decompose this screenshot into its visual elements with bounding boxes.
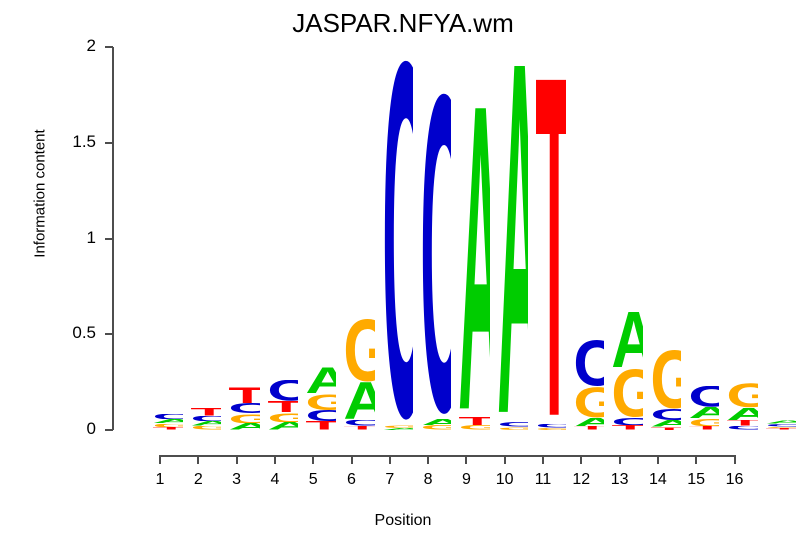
- y-axis-tick: [105, 238, 113, 240]
- x-axis-tick: [351, 455, 353, 464]
- x-axis-tick-label: 16: [715, 471, 755, 489]
- logo-stack: GCAT: [643, 350, 681, 430]
- logo-stack: CAG: [413, 93, 451, 430]
- logo-letter-c: C: [413, 93, 451, 419]
- x-axis-tick-label: 13: [600, 471, 640, 489]
- logo-letter-g: G: [413, 425, 451, 430]
- logo-letter-g: G: [183, 426, 221, 430]
- logo-stack: ACGT: [758, 420, 796, 430]
- x-axis-tick: [504, 455, 506, 464]
- logo-letter-t: T: [528, 74, 566, 424]
- logo-letter-c: C: [681, 386, 719, 407]
- logo-letter-c: C: [375, 60, 413, 425]
- logo-letter-g: G: [451, 425, 489, 430]
- x-axis-tick-label: 7: [370, 471, 410, 489]
- x-axis-tick: [312, 455, 314, 464]
- x-axis-tick-label: 14: [638, 471, 678, 489]
- logo-letter-c: C: [566, 340, 604, 387]
- logo-letter-a: A: [451, 103, 489, 417]
- logo-letter-a: A: [490, 60, 528, 422]
- y-axis-title: Information content: [32, 94, 49, 294]
- x-axis-tick-label: 15: [676, 471, 716, 489]
- logo-letter-g: G: [528, 428, 566, 430]
- logo-stack: TCAG: [183, 408, 221, 430]
- logo-letter-a: A: [413, 419, 451, 426]
- logo-letter-g: G: [643, 350, 681, 409]
- x-axis-tick-label: 12: [561, 471, 601, 489]
- x-axis-tick-label: 8: [408, 471, 448, 489]
- logo-stack: GATC: [719, 383, 757, 430]
- logo-letter-a: A: [260, 422, 298, 430]
- x-axis-tick-label: 10: [485, 471, 525, 489]
- logo-letter-t: T: [758, 428, 796, 430]
- logo-letter-a: A: [566, 418, 604, 427]
- x-axis-title: Position: [0, 512, 806, 530]
- logo-letter-a: A: [604, 311, 642, 368]
- x-axis-tick: [542, 455, 544, 464]
- y-axis-tick: [105, 429, 113, 431]
- logo-letter-t: T: [183, 408, 221, 416]
- logo-stack: CGA: [375, 60, 413, 430]
- logo-stack: ATG: [451, 103, 489, 430]
- sequence-logo-figure: JASPAR.NFYA.wm Information content Posit…: [0, 0, 806, 559]
- logo-letter-a: A: [375, 428, 413, 430]
- x-axis-tick: [465, 455, 467, 464]
- logo-stack: TCG: [528, 74, 566, 430]
- x-axis-tick-label: 4: [255, 471, 295, 489]
- x-axis-tick: [619, 455, 621, 464]
- x-axis-tick-label: 3: [217, 471, 257, 489]
- y-axis-tick-label: 1: [56, 228, 96, 248]
- logo-letter-t: T: [643, 427, 681, 430]
- y-axis-tick: [105, 142, 113, 144]
- plot-area: Information content Position 00.511.5212…: [0, 0, 806, 559]
- x-axis-line: [160, 455, 735, 457]
- logo-letter-t: T: [260, 401, 298, 412]
- logo-letter-t: T: [604, 425, 642, 430]
- logo-letter-a: A: [298, 367, 336, 394]
- x-axis-tick: [389, 455, 391, 464]
- x-axis-tick: [197, 455, 199, 464]
- x-axis-tick: [734, 455, 736, 464]
- x-axis-tick: [236, 455, 238, 464]
- x-axis-tick: [159, 455, 161, 464]
- logo-letter-c: C: [719, 426, 757, 430]
- logo-letter-c: C: [604, 418, 642, 426]
- x-axis-tick: [427, 455, 429, 464]
- logo-letter-t: T: [221, 387, 259, 403]
- logo-stack: CTGA: [260, 380, 298, 430]
- x-axis-tick-label: 5: [293, 471, 333, 489]
- x-axis-tick: [695, 455, 697, 464]
- logo-stack: AGCT: [298, 367, 336, 430]
- y-axis-tick: [105, 46, 113, 48]
- logo-letter-a: A: [221, 423, 259, 430]
- logo-stack: CAGT: [145, 414, 183, 430]
- logo-letter-g: G: [490, 427, 528, 430]
- logo-stack: TCGA: [221, 387, 259, 430]
- logo-stack: CGAT: [566, 340, 604, 430]
- logo-letter-g: G: [298, 394, 336, 410]
- logo-letter-g: G: [681, 419, 719, 427]
- logo-letter-g: G: [336, 319, 374, 382]
- logo-letter-g: G: [719, 383, 757, 408]
- y-axis-tick: [105, 333, 113, 335]
- logo-stack: ACG: [490, 60, 528, 430]
- y-axis-tick-label: 0: [56, 419, 96, 439]
- x-axis-tick-label: 11: [523, 471, 563, 489]
- logo-letter-c: C: [298, 410, 336, 421]
- logo-letter-t: T: [681, 426, 719, 430]
- logo-stack: AGCT: [604, 311, 642, 430]
- logo-letter-a: A: [719, 408, 757, 420]
- logo-letter-a: A: [681, 407, 719, 418]
- logo-letter-t: T: [145, 427, 183, 430]
- logo-letter-g: G: [604, 369, 642, 418]
- logo-letter-g: G: [221, 414, 259, 424]
- logo-stack: GACT: [336, 319, 374, 430]
- x-axis-tick-label: 2: [178, 471, 218, 489]
- y-axis-tick-label: 2: [56, 36, 96, 56]
- logo-letter-a: A: [643, 420, 681, 427]
- logo-letter-t: T: [336, 426, 374, 430]
- logo-letter-t: T: [451, 417, 489, 426]
- logo-letter-g: G: [566, 387, 604, 418]
- logo-letter-t: T: [566, 426, 604, 430]
- logo-letter-c: C: [643, 409, 681, 420]
- logo-letter-t: T: [298, 421, 336, 430]
- y-axis-tick-label: 0.5: [56, 323, 96, 343]
- logo-letter-c: C: [221, 403, 259, 414]
- x-axis-tick-label: 1: [140, 471, 180, 489]
- x-axis-tick-label: 9: [446, 471, 486, 489]
- logo-letter-a: A: [336, 382, 374, 420]
- x-axis-tick: [580, 455, 582, 464]
- y-axis-tick-label: 1.5: [56, 132, 96, 152]
- x-axis-tick-label: 6: [332, 471, 372, 489]
- x-axis-tick: [657, 455, 659, 464]
- logo-stack: CAGT: [681, 386, 719, 430]
- x-axis-tick: [274, 455, 276, 464]
- logo-letter-c: C: [260, 380, 298, 401]
- logo-letter-g: G: [260, 413, 298, 423]
